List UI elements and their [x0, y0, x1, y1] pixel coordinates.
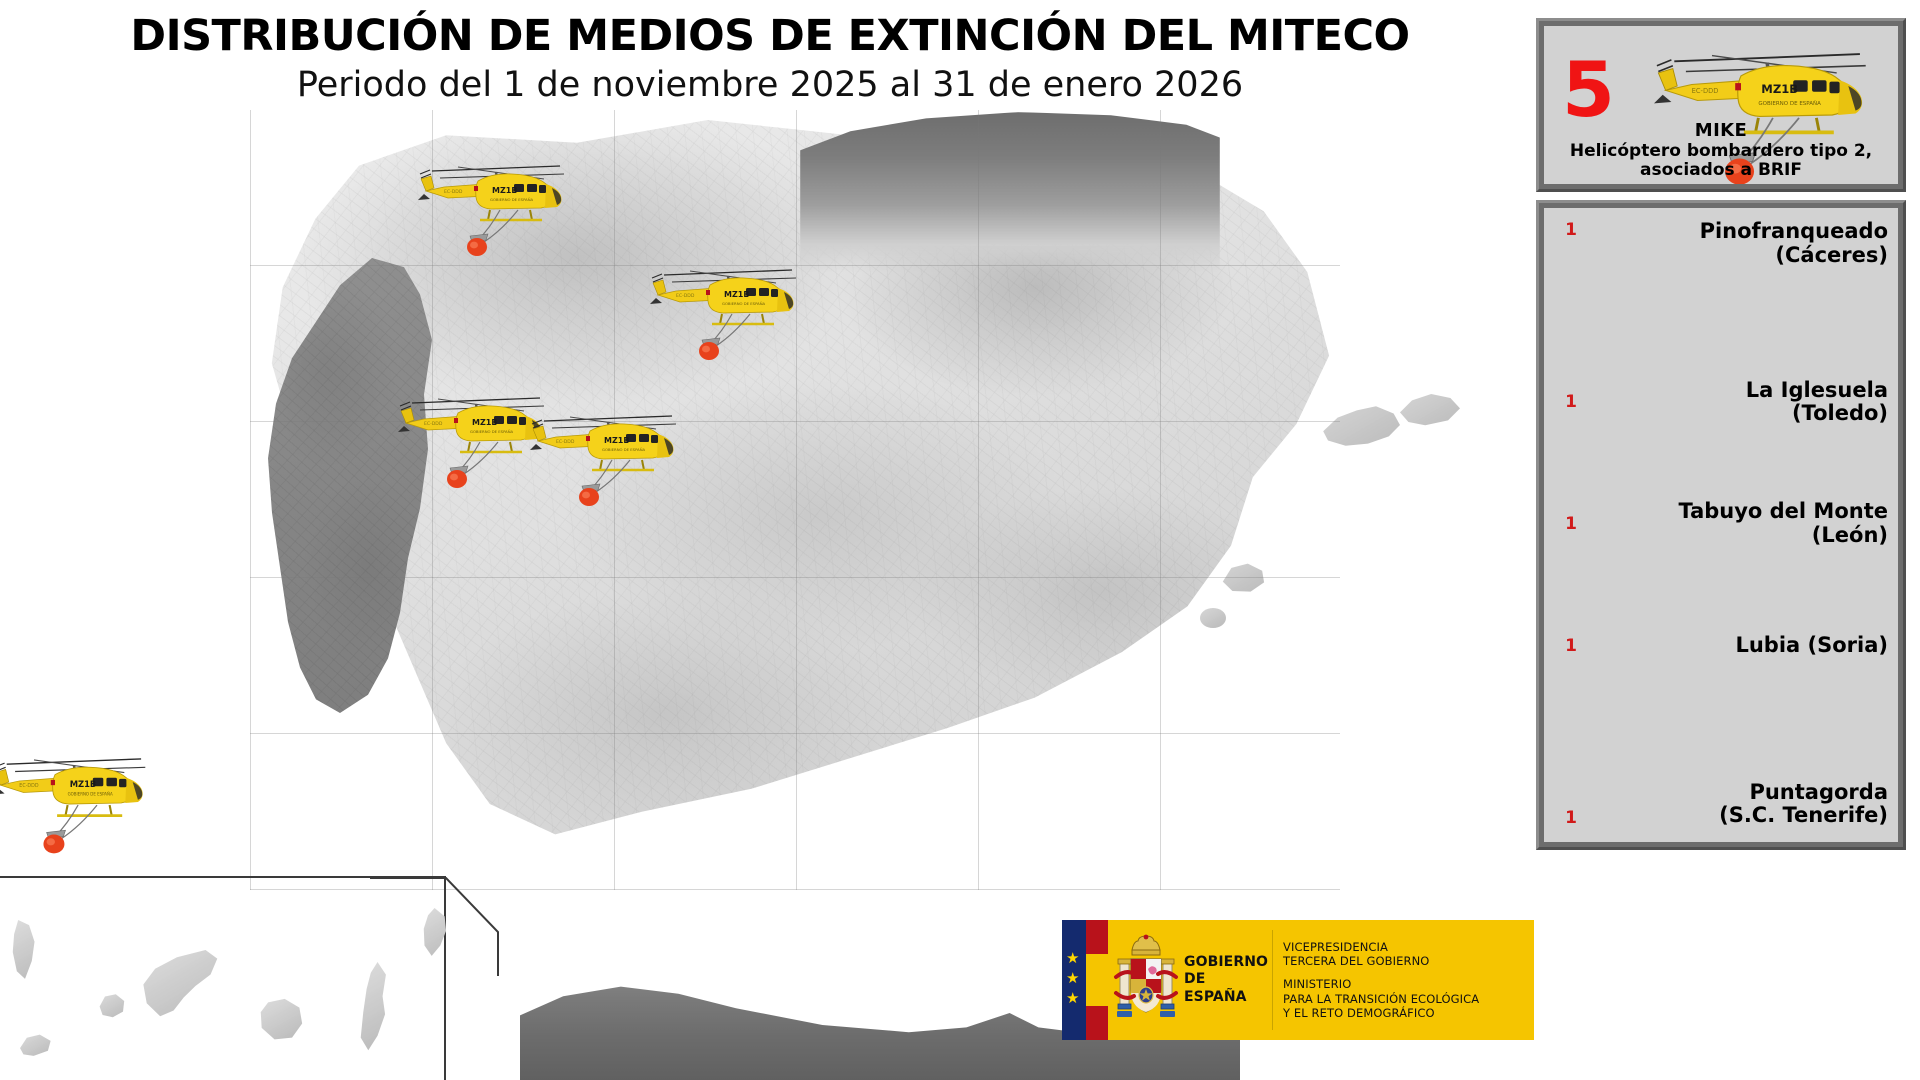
location-name: La Iglesuela (Toledo) — [1598, 379, 1898, 426]
eu-stars-icon: ★★★ — [1066, 948, 1079, 1008]
location-name: Lubia (Soria) — [1598, 634, 1898, 658]
ibiza-island — [1218, 560, 1266, 596]
location-name: Tabuyo del Monte (León) — [1598, 500, 1898, 547]
location-name: Puntagorda (S.C. Tenerife) — [1598, 781, 1898, 828]
mallorca-island — [1320, 400, 1400, 452]
ministry-line-3: MINISTERIO — [1283, 977, 1528, 991]
spain-flag-eu-stars-icon: ★★★ — [1062, 920, 1108, 1040]
page-subtitle: Periodo del 1 de noviembre 2025 al 31 de… — [40, 66, 1500, 105]
page-title: DISTRIBUCIÓN DE MEDIOS DE EXTINCIÓN DEL … — [40, 14, 1500, 60]
ministry-line-2: TERCERA DEL GOBIERNO — [1283, 954, 1528, 968]
legend-description-line-1: Helicóptero bombardero tipo 2, — [1544, 142, 1898, 161]
list-item[interactable]: 1 La Iglesuela (Toledo) — [1544, 342, 1898, 464]
svg-text:GOBIERNO DE ESPAÑA: GOBIERNO DE ESPAÑA — [68, 792, 113, 797]
gobierno-line-2: DE ESPAÑA — [1184, 971, 1268, 1005]
list-item[interactable]: 1 Pinofranqueado (Cáceres) — [1544, 208, 1898, 342]
locations-panel[interactable]: 1 Pinofranqueado (Cáceres) 1 La Iglesuel… — [1536, 200, 1906, 850]
formentera-island — [1200, 608, 1226, 628]
location-name-line-2: (Cáceres) — [1598, 244, 1888, 268]
ministry-line-1: VICEPRESIDENCIA — [1283, 940, 1528, 954]
list-item[interactable]: 1 Lubia (Soria) — [1544, 585, 1898, 707]
map-poster: MZ1BEC-DDDGOBIERNO DE ESPAÑA MZ1BEC-DDDG… — [0, 0, 1920, 1080]
title-block: DISTRIBUCIÓN DE MEDIOS DE EXTINCIÓN DEL … — [40, 14, 1500, 104]
list-item[interactable]: 1 Puntagorda (S.C. Tenerife) — [1544, 706, 1898, 842]
france-pyrenees-landmass — [800, 112, 1220, 272]
legend-caption: MIKE Helicóptero bombardero tipo 2, asoc… — [1544, 120, 1898, 180]
location-count: 1 — [1544, 514, 1598, 534]
location-name-line-1: La Iglesuela — [1598, 379, 1888, 403]
svg-text:EC-DDD: EC-DDD — [19, 783, 39, 789]
location-count: 1 — [1544, 808, 1598, 828]
map-canvas[interactable]: MZ1BEC-DDDGOBIERNO DE ESPAÑA MZ1BEC-DDDG… — [0, 0, 1535, 1080]
list-item[interactable]: 1 Tabuyo del Monte (León) — [1544, 463, 1898, 585]
legend-panel-inner: 5 MZ1BEC-DDDGOBIERNO DE ESPAÑA MIKE Heli… — [1544, 26, 1898, 184]
location-name-line-1: Puntagorda — [1598, 781, 1888, 805]
location-name-line-1: Lubia (Soria) — [1598, 634, 1888, 658]
menorca-island — [1400, 390, 1460, 430]
svg-text:MZ1B: MZ1B — [70, 779, 97, 789]
legend-aircraft-name: MIKE — [1544, 120, 1898, 141]
ministry-label: VICEPRESIDENCIA TERCERA DEL GOBIERNO MIN… — [1283, 920, 1534, 1040]
svg-text:MZ1B: MZ1B — [1761, 82, 1798, 96]
location-name-line-2: (Toledo) — [1598, 402, 1888, 426]
legend-count: 5 — [1562, 56, 1615, 124]
location-count: 1 — [1544, 636, 1598, 656]
location-name-line-1: Tabuyo del Monte — [1598, 500, 1888, 524]
gobierno-de-espana-label: GOBIERNO DE ESPAÑA — [1184, 920, 1268, 1040]
location-name-line-2: (León) — [1598, 524, 1888, 548]
legend-description-line-2: asociados a BRIF — [1544, 161, 1898, 180]
map-marker-helicopter-puntagorda[interactable]: MZ1BEC-DDDGOBIERNO DE ESPAÑA — [0, 740, 150, 856]
spain-coat-of-arms-icon — [1108, 920, 1184, 1040]
location-count: 1 — [1544, 220, 1598, 240]
government-logo: ★★★ — [1062, 920, 1534, 1040]
ministry-line-4: PARA LA TRANSICIÓN ECOLÓGICA — [1283, 992, 1528, 1006]
location-count: 1 — [1544, 392, 1598, 412]
location-name: Pinofranqueado (Cáceres) — [1598, 220, 1898, 267]
location-name-line-2: (S.C. Tenerife) — [1598, 804, 1888, 828]
ministry-line-5: Y EL RETO DEMOGRÁFICO — [1283, 1006, 1528, 1020]
logo-divider — [1272, 930, 1273, 1030]
legend-panel[interactable]: 5 MZ1BEC-DDDGOBIERNO DE ESPAÑA MIKE Heli… — [1536, 18, 1906, 192]
svg-text:GOBIERNO DE ESPAÑA: GOBIERNO DE ESPAÑA — [1758, 100, 1821, 107]
gobierno-line-1: GOBIERNO — [1184, 954, 1268, 971]
location-name-line-1: Pinofranqueado — [1598, 220, 1888, 244]
locations-list: 1 Pinofranqueado (Cáceres) 1 La Iglesuel… — [1544, 208, 1898, 842]
svg-text:EC-DDD: EC-DDD — [1692, 87, 1719, 95]
